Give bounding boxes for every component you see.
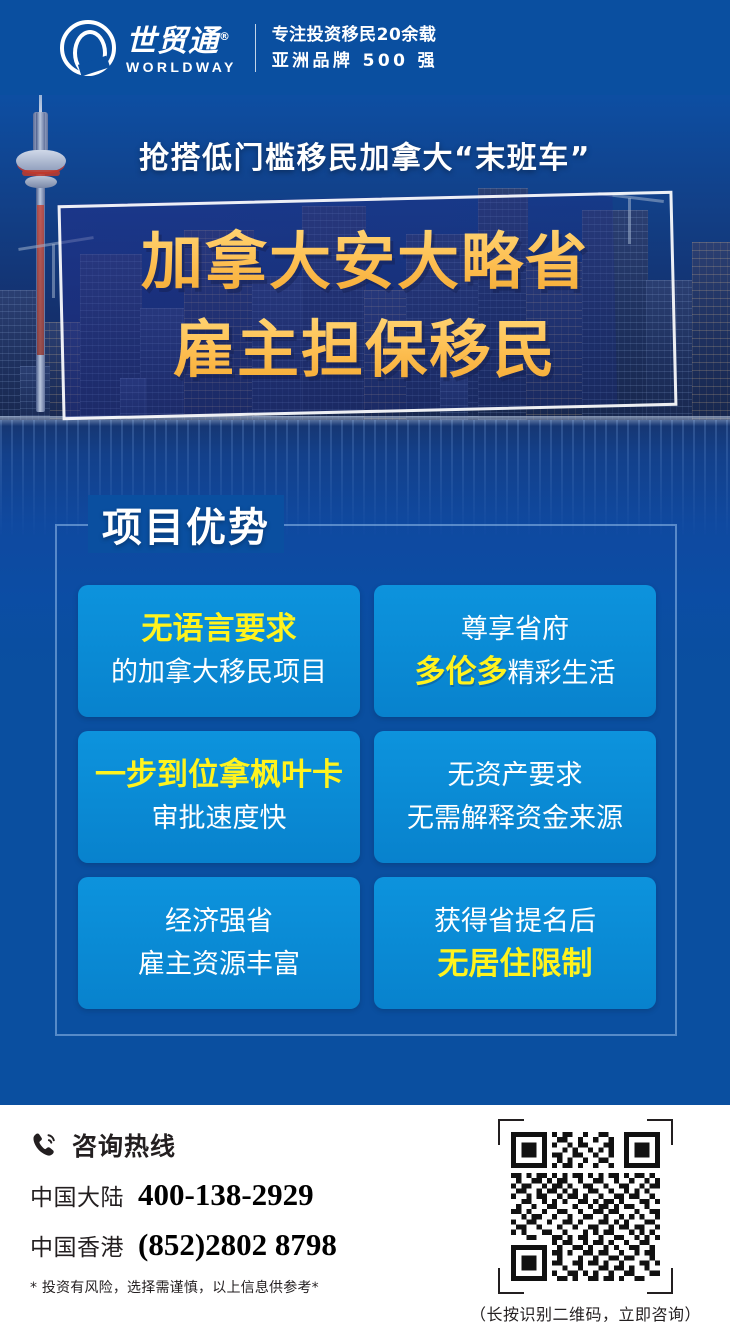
brand-name-cn-text: 世贸通 bbox=[126, 24, 219, 59]
poster-root: 世贸通® WORLDWAY 专注投资移民20余载 亚洲品牌 500 强 抢搭低门… bbox=[0, 0, 730, 1325]
advantages-card-grid: 无语言要求 的加拿大移民项目 尊享省府 多伦多精彩生活 一步到位拿枫叶卡 审批速… bbox=[78, 585, 656, 1009]
qr-code-icon bbox=[511, 1132, 660, 1281]
contact-row-hongkong: 中国香港 (852)2802 8798 bbox=[30, 1227, 337, 1263]
advantage-card-2-line2-rest: 精彩生活 bbox=[508, 658, 616, 689]
worldway-circle-logo-icon bbox=[60, 20, 116, 76]
brand-slogan: 专注投资移民20余载 亚洲品牌 500 强 bbox=[272, 24, 438, 73]
advantage-card-4[interactable]: 无资产要求 无需解释资金来源 bbox=[374, 731, 656, 863]
qr-caption: （长按识别二维码，立即咨询） bbox=[470, 1301, 700, 1325]
hero-title: 加拿大安大略省 雇主担保移民 bbox=[0, 218, 730, 394]
advantage-card-3[interactable]: 一步到位拿枫叶卡 审批速度快 bbox=[78, 731, 360, 863]
phone-ringing-icon bbox=[30, 1130, 60, 1160]
hero-kicker: 抢搭低门槛移民加拿大“末班车” bbox=[0, 133, 730, 177]
advantage-card-4-line1: 无资产要求 bbox=[448, 754, 583, 797]
hero-title-line1: 加拿大安大略省 bbox=[0, 218, 730, 306]
legal-disclaimer: * 投资有风险，选择需谨慎，以上信息供参考* bbox=[30, 1277, 319, 1297]
advantage-card-2-line2-highlight: 多伦多 bbox=[415, 654, 508, 690]
hero-title-line2: 雇主担保移民 bbox=[0, 306, 730, 394]
advantage-card-5-line1: 经济强省 bbox=[165, 900, 273, 943]
brand-slogan-line2: 亚洲品牌 500 强 bbox=[272, 49, 438, 73]
contact-region-mainland: 中国大陆 bbox=[30, 1178, 124, 1212]
brand-logo-group: 世贸通® WORLDWAY 专注投资移民20余载 亚洲品牌 500 强 bbox=[60, 20, 438, 76]
qr-code-zone: （长按识别二维码，立即咨询） bbox=[470, 1119, 700, 1325]
contact-row-mainland: 中国大陆 400-138-2929 bbox=[30, 1177, 314, 1213]
contact-number-mainland[interactable]: 400-138-2929 bbox=[138, 1177, 314, 1213]
advantage-card-6-line1: 获得省提名后 bbox=[434, 900, 596, 943]
advantage-card-2-line1: 尊享省府 bbox=[461, 608, 569, 651]
brand-header: 世贸通® WORLDWAY 专注投资移民20余载 亚洲品牌 500 强 bbox=[0, 0, 730, 95]
contact-number-hongkong[interactable]: (852)2802 8798 bbox=[138, 1227, 337, 1263]
advantage-card-1-line2: 的加拿大移民项目 bbox=[111, 651, 327, 694]
advantage-card-6-line2: 无居住限制 bbox=[438, 943, 593, 986]
brand-slogan-line1: 专注投资移民20余载 bbox=[272, 24, 438, 47]
advantage-card-2-line2: 多伦多精彩生活 bbox=[415, 651, 616, 695]
hotline-label: 咨询热线 bbox=[72, 1127, 176, 1163]
contact-region-hongkong: 中国香港 bbox=[30, 1228, 124, 1262]
brand-wordmark: 世贸通® WORLDWAY bbox=[126, 21, 237, 75]
brand-divider bbox=[255, 24, 256, 72]
advantage-card-1[interactable]: 无语言要求 的加拿大移民项目 bbox=[78, 585, 360, 717]
brand-name-en: WORLDWAY bbox=[126, 59, 237, 75]
advantage-card-5-line2: 雇主资源丰富 bbox=[138, 943, 300, 986]
advantage-card-5[interactable]: 经济强省 雇主资源丰富 bbox=[78, 877, 360, 1009]
qr-code-container[interactable] bbox=[498, 1119, 673, 1294]
brand-name-cn: 世贸通® bbox=[126, 21, 237, 58]
advantage-card-1-line1: 无语言要求 bbox=[142, 608, 297, 651]
advantage-card-6[interactable]: 获得省提名后 无居住限制 bbox=[374, 877, 656, 1009]
advantages-section-title: 项目优势 bbox=[88, 495, 284, 553]
hotline-header: 咨询热线 bbox=[30, 1127, 176, 1163]
advantage-card-4-line2: 无需解释资金来源 bbox=[407, 797, 623, 840]
advantage-card-3-line2: 审批速度快 bbox=[152, 797, 287, 840]
advantage-card-2[interactable]: 尊享省府 多伦多精彩生活 bbox=[374, 585, 656, 717]
registered-trademark-icon: ® bbox=[219, 30, 231, 43]
contact-footer: 咨询热线 中国大陆 400-138-2929 中国香港 (852)2802 87… bbox=[0, 1105, 730, 1325]
advantage-card-3-line1: 一步到位拿枫叶卡 bbox=[95, 754, 343, 797]
